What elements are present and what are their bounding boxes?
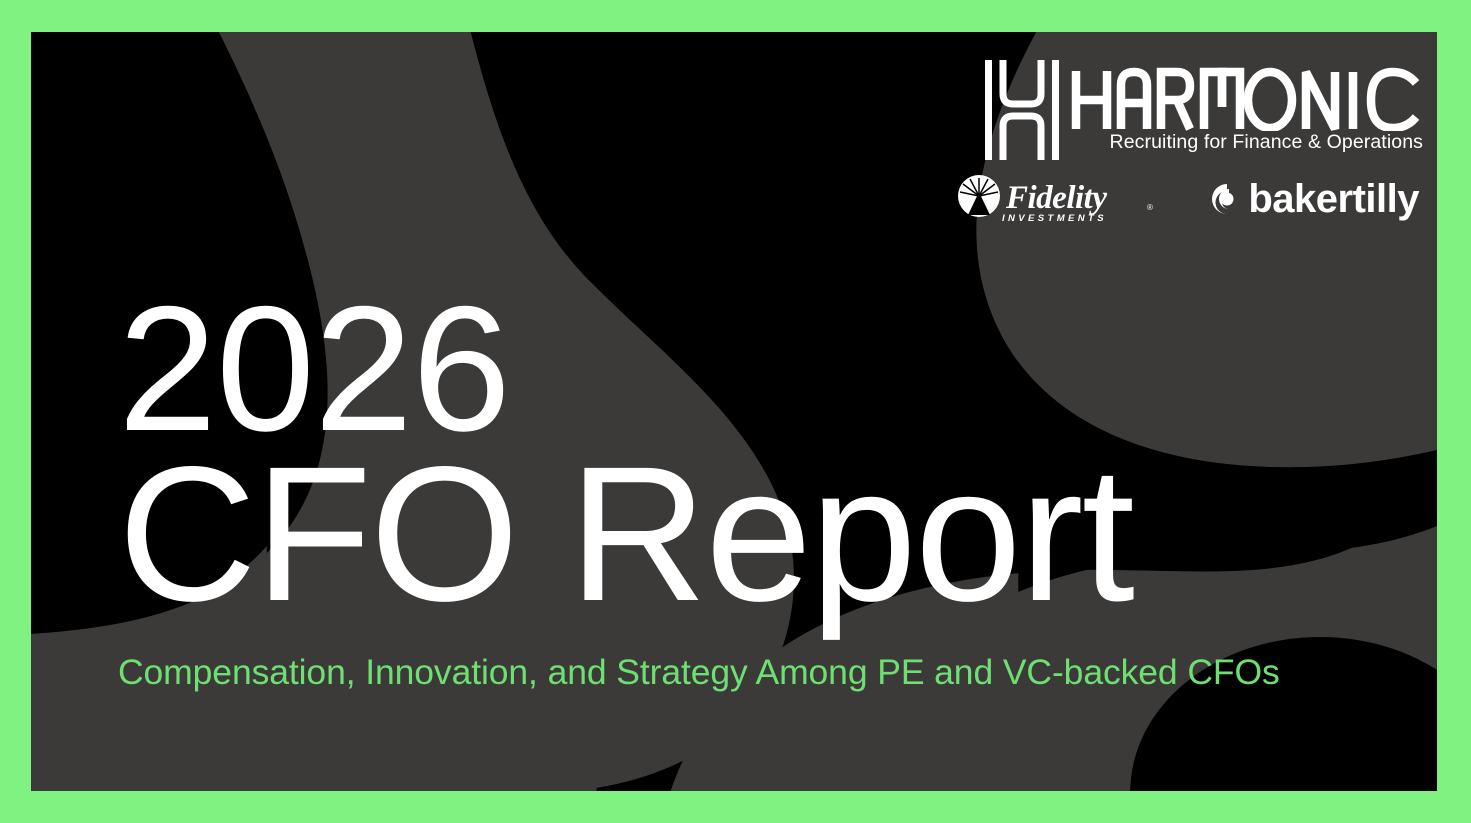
partner-logos: Fidelity ® INVESTMENTS bakertilly <box>954 174 1423 224</box>
harmonic-logo: Recruiting for Finance & Operations <box>983 60 1423 160</box>
fidelity-logo-lockup: Fidelity ® INVESTMENTS <box>954 174 1159 224</box>
cover-slide: Recruiting for Finance & Operations <box>0 0 1471 823</box>
harmonic-wordmark-block: Recruiting for Finance & Operations <box>1071 67 1423 152</box>
bakertilly-wordmark: bakertilly <box>1248 179 1419 219</box>
title-block: 2026 CFO Report Compensation, Innovation… <box>118 287 1280 692</box>
bakertilly-crescent-icon <box>1205 182 1239 216</box>
svg-text:®: ® <box>1147 203 1153 212</box>
harmonic-tagline: Recruiting for Finance & Operations <box>1071 132 1423 152</box>
svg-text:INVESTMENTS: INVESTMENTS <box>1002 213 1107 224</box>
cover-subtitle: Compensation, Innovation, and Strategy A… <box>118 653 1280 692</box>
cover-title: CFO Report <box>118 445 1280 624</box>
bakertilly-logo: bakertilly <box>1205 179 1419 219</box>
fidelity-logo: Fidelity ® INVESTMENTS <box>954 174 1159 224</box>
harmonic-h-monogram-icon <box>983 60 1061 160</box>
harmonic-wordmark <box>1071 67 1423 131</box>
logo-cluster: Recruiting for Finance & Operations <box>954 60 1423 224</box>
cover-canvas: Recruiting for Finance & Operations <box>31 32 1437 791</box>
svg-text:Fidelity: Fidelity <box>1005 180 1107 216</box>
